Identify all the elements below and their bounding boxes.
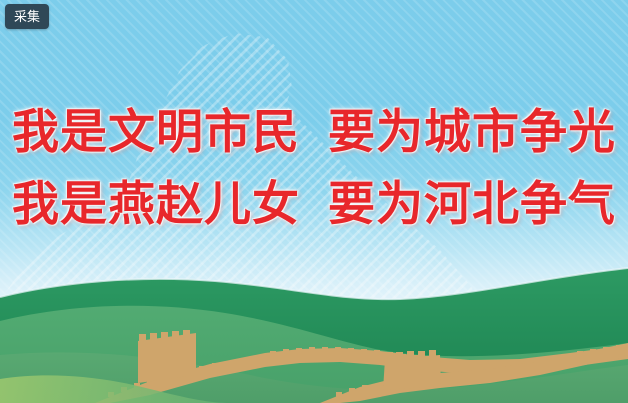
slogan-line-2-right: 要为河北争气 (328, 177, 616, 230)
slogan-line-1-left: 我是文明市民 (12, 105, 300, 158)
slogan-line-2: 我是燕赵儿女要为河北争气 (0, 168, 628, 240)
landscape-scene (0, 263, 628, 403)
banner-image: 我是文明市民要为城市争光 我是燕赵儿女要为河北争气 采集 (0, 0, 628, 403)
slogan-line-2-left: 我是燕赵儿女 (12, 177, 300, 230)
collect-button[interactable]: 采集 (5, 4, 49, 29)
slogan-line-1: 我是文明市民要为城市争光 (0, 96, 628, 168)
slogan-line-1-right: 要为城市争光 (328, 105, 616, 158)
slogan-text-block: 我是文明市民要为城市争光 我是燕赵儿女要为河北争气 (0, 96, 628, 240)
